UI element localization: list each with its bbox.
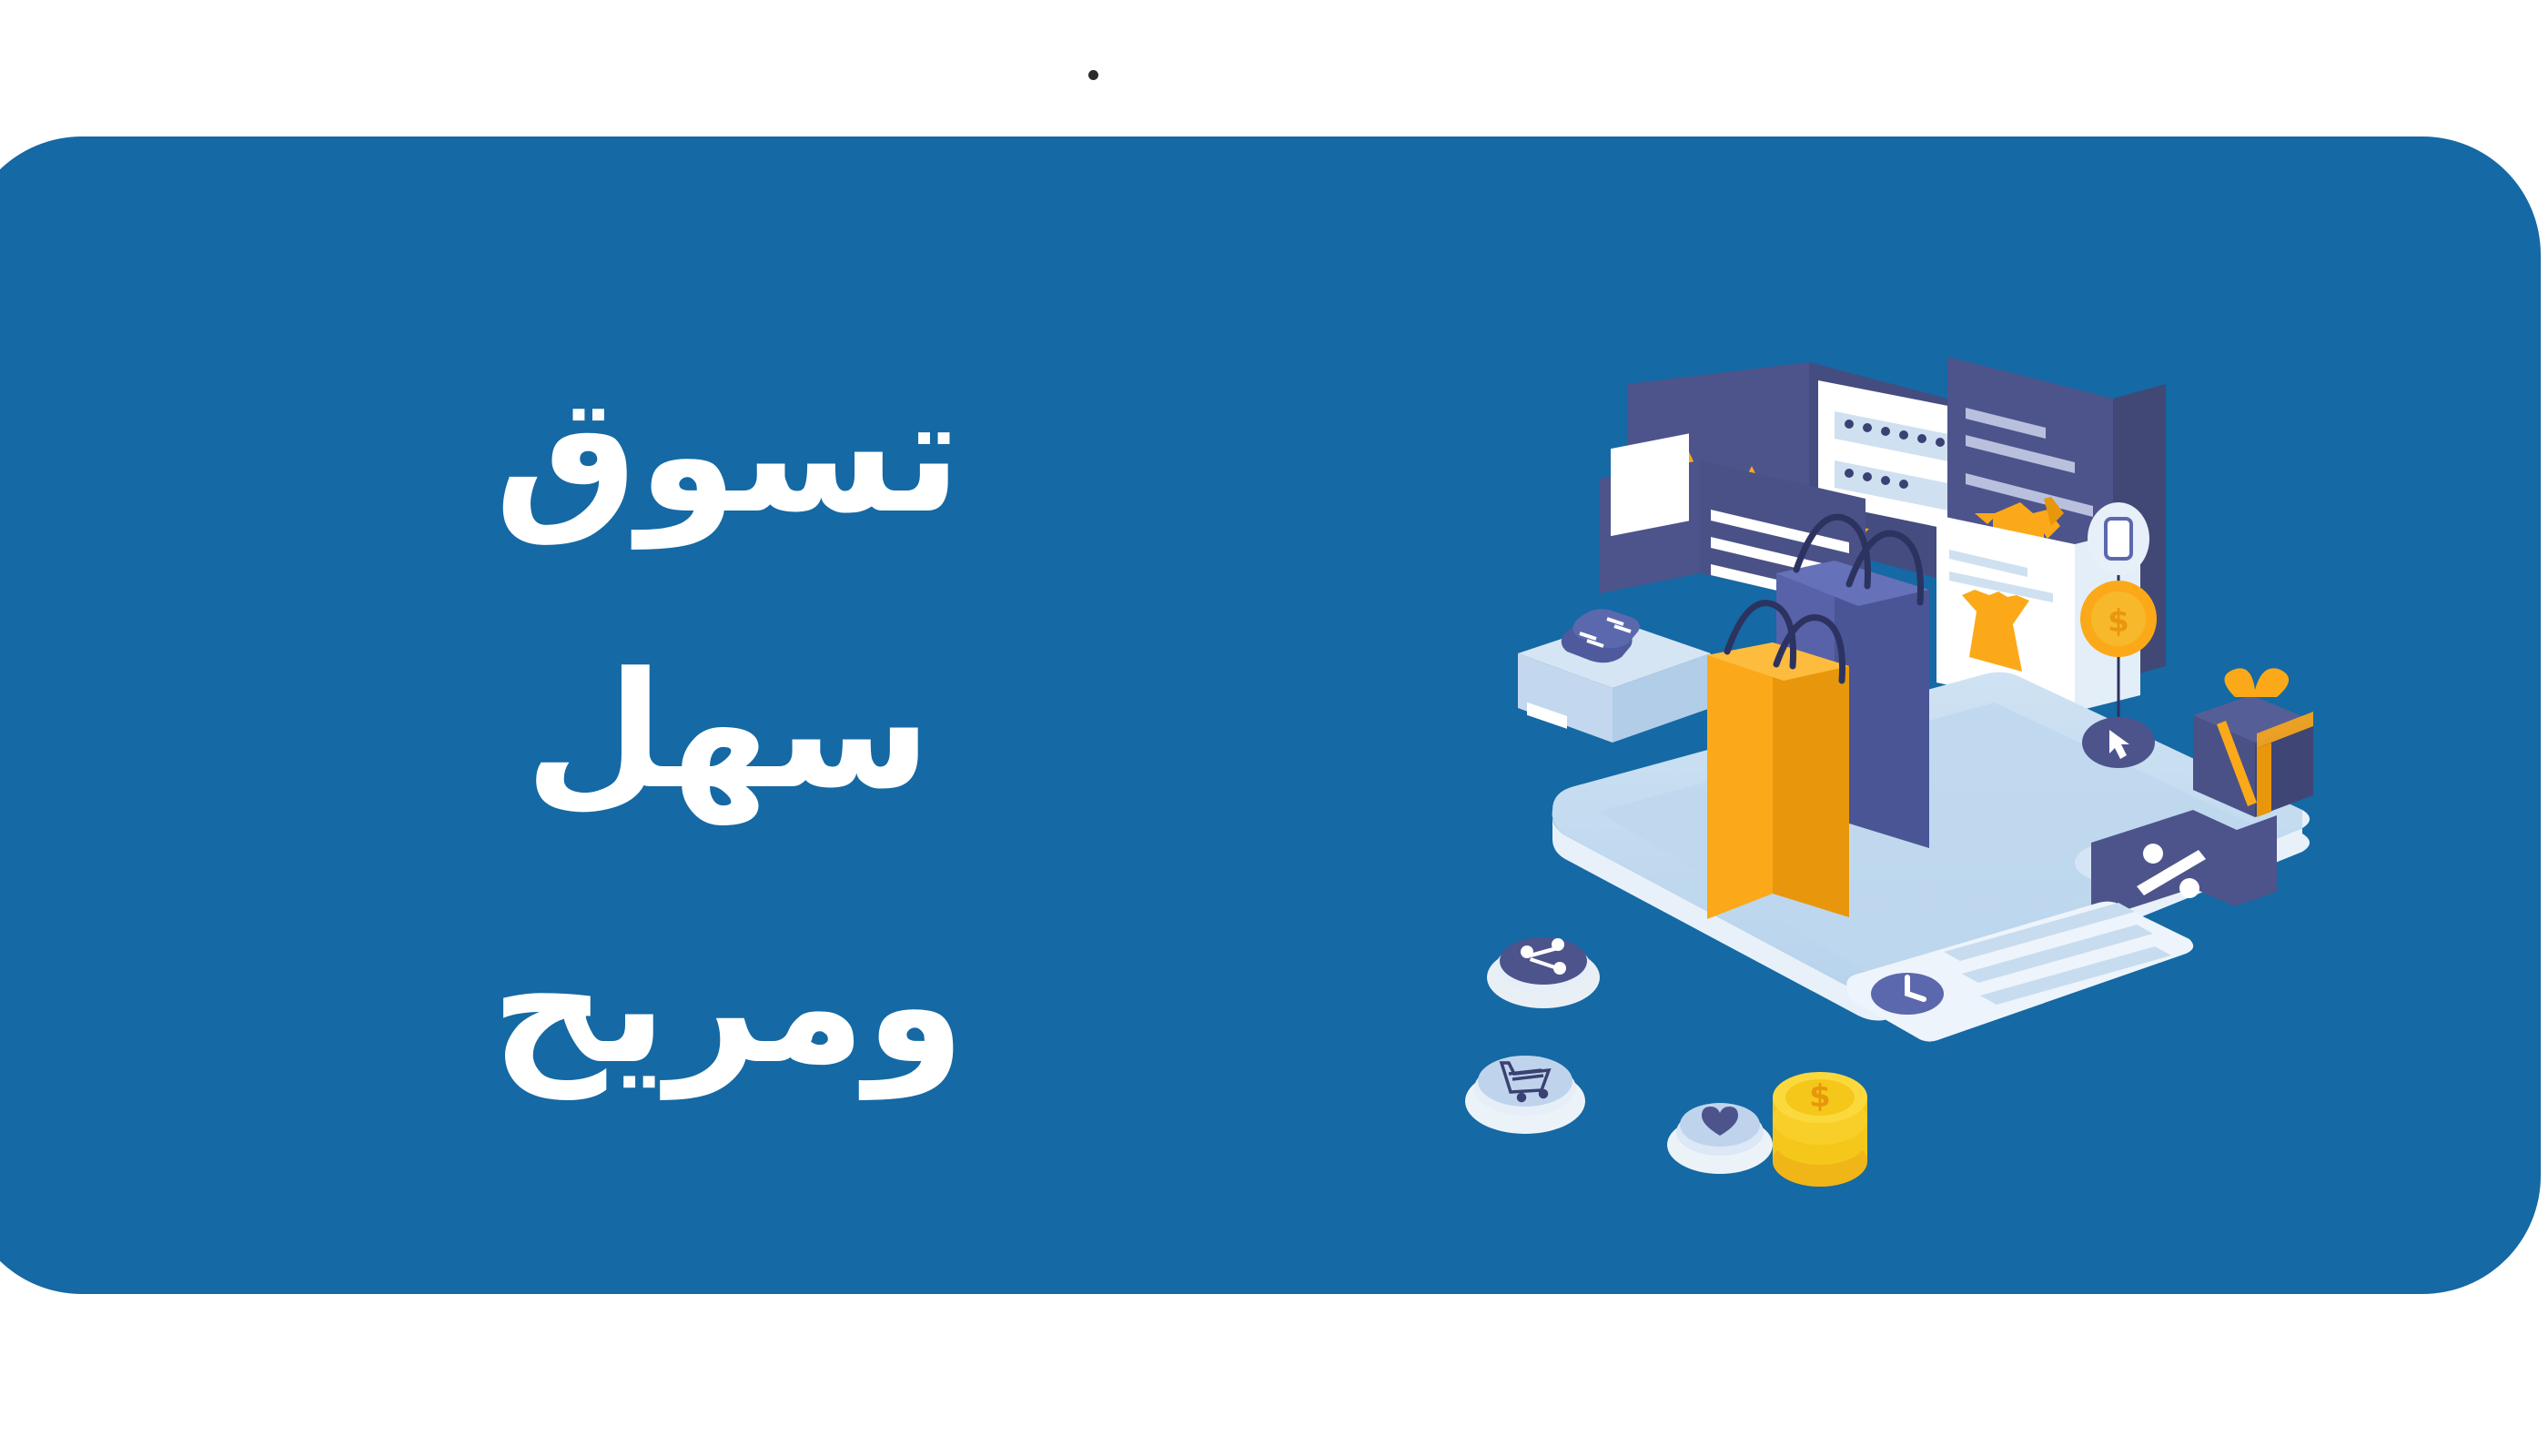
- mobile-icon-button: [2088, 502, 2149, 575]
- cursor-button: [2082, 717, 2155, 768]
- isometric-shopping-illustration: $ $: [1438, 300, 2366, 1228]
- coin-stack: $: [1773, 1072, 1867, 1187]
- headline-line-2: سهل: [382, 594, 1074, 870]
- cart-button: [1465, 1056, 1585, 1134]
- dollar-symbol-coin: $: [2108, 603, 2129, 640]
- dollar-symbol: $: [1809, 1078, 1831, 1115]
- headline-line-3: ومريح: [382, 869, 1074, 1145]
- heart-button: [1667, 1103, 1773, 1174]
- shoe-box: [1518, 609, 1711, 743]
- clock-icon: [1871, 973, 1944, 1015]
- headline-line-1: تسوق: [382, 318, 1074, 594]
- page-title: تسوق سهل ومريح: [382, 318, 1074, 1145]
- promo-banner-card: تسوق سهل ومريح: [0, 136, 2541, 1294]
- share-button: [1487, 937, 1600, 1008]
- stray-dot-mark: [1088, 70, 1098, 80]
- gift-box: [2193, 668, 2313, 817]
